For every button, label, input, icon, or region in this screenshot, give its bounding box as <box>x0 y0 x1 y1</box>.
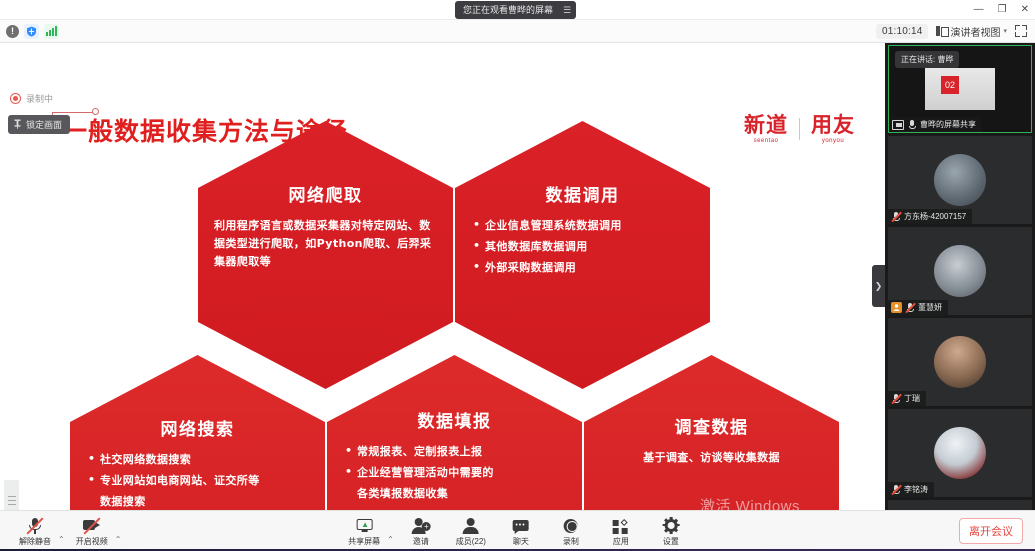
view-mode-selector[interactable]: 演讲者视图 ▾ <box>936 24 1007 39</box>
camera-off-icon <box>82 517 102 535</box>
maximize-button[interactable]: ❐ <box>998 0 1007 20</box>
participant-name: 丁瑞 <box>904 393 920 404</box>
annotation-leader-line <box>52 112 96 113</box>
hexagon-data-fill-title: 数据填报 <box>343 407 566 432</box>
view-mode-label: 演讲者视图 <box>950 24 1000 39</box>
annotation-toolbar-handle[interactable] <box>4 480 19 510</box>
avatar <box>934 245 986 297</box>
apps-icon <box>611 517 631 535</box>
list-item: 外部采购数据调用 <box>471 259 694 277</box>
participant-tile-dingrui[interactable]: 丁瑞 <box>888 318 1032 406</box>
mic-muted-icon <box>25 517 45 535</box>
participant-name-bar: 丁瑞 <box>888 391 926 406</box>
microphone-icon <box>907 119 917 130</box>
share-screen-button[interactable]: ▲ 共享屏幕 <box>339 516 389 547</box>
leave-meeting-button[interactable]: 离开会议 <box>959 518 1023 544</box>
info-icon[interactable]: ! <box>6 25 19 38</box>
video-button-label: 开启视频 <box>76 536 108 547</box>
record-button[interactable]: 录制 <box>546 516 596 547</box>
screen-share-banner-text: 您正在观看曹晔的屏幕 <box>463 1 553 19</box>
list-item: 数据搜索 <box>86 493 309 510</box>
participant-filmstrip[interactable]: 02 正在讲话: 曹晔 曹晔的屏幕共享 方东杨-42007157 <box>885 43 1035 510</box>
chat-icon: ••• <box>511 517 531 535</box>
record-label: 录制 <box>563 536 579 547</box>
invite-label: 邀请 <box>413 536 429 547</box>
screenshare-thumbnail-text: 02 <box>941 76 959 94</box>
mute-button-label: 解除静音 <box>19 536 51 547</box>
hexagon-web-search-list: 社交网络数据搜索 专业网站如电商网站、证交所等 数据搜索 政府部门、第三方数据收… <box>86 451 309 510</box>
window-titlebar: 您正在观看曹晔的屏幕 ☰ — ❐ ✕ <box>0 0 1035 20</box>
participant-name: 董慧妍 <box>918 302 942 313</box>
recording-label: 录制中 <box>26 92 53 105</box>
hexagon-web-crawl-title: 网络爬取 <box>214 181 437 206</box>
invite-button[interactable]: + 邀请 <box>396 516 446 547</box>
avatar <box>934 336 986 388</box>
apps-button[interactable]: 应用 <box>596 516 646 547</box>
hexagon-data-fill-list: 常规报表、定制报表上报 企业经营管理活动中需要的 各类填报数据收集 <box>343 443 566 503</box>
recording-indicator[interactable]: 录制中 <box>10 92 53 105</box>
settings-button[interactable]: 设置 <box>646 516 696 547</box>
pin-screen-tooltip[interactable]: 锁定画面 <box>8 115 70 134</box>
close-button[interactable]: ✕ <box>1021 0 1029 20</box>
banner-menu-icon[interactable]: ☰ <box>563 1 570 19</box>
meeting-info-right: 01:10:14 演讲者视图 ▾ <box>876 24 1027 39</box>
shared-screen-stage[interactable]: 一般数据收集方法与途径 新道 seentao 用友 yonyou 网络爬取 利用 <box>0 43 885 510</box>
hexagon-web-search-title: 网络搜索 <box>86 415 309 440</box>
list-item: 企业经营管理活动中需要的 <box>343 464 566 482</box>
collapse-filmstrip-button[interactable]: ❯ <box>872 265 885 307</box>
participant-name-bar: 方东杨-42007157 <box>888 209 972 224</box>
list-item: 社交网络数据搜索 <box>86 451 309 469</box>
hexagon-diagram: 网络爬取 利用程序语言或数据采集器对特定网站、数据类型进行爬取，如Python爬… <box>0 43 885 510</box>
microphone-muted-icon <box>891 393 901 404</box>
hexagon-survey-data-body: 基于调查、访谈等收集数据 <box>600 449 823 467</box>
host-badge-icon <box>891 302 902 313</box>
hexagon-web-search: 网络搜索 社交网络数据搜索 专业网站如电商网站、证交所等 数据搜索 政府部门、第… <box>70 355 325 510</box>
share-screen-label: 共享屏幕 <box>348 536 380 547</box>
chat-button[interactable]: ••• 聊天 <box>496 516 546 547</box>
active-speaker-chip: 正在讲话: 曹晔 <box>895 51 959 68</box>
settings-label: 设置 <box>663 536 679 547</box>
pin-icon <box>14 119 21 131</box>
video-options-caret-icon[interactable]: ⌃ <box>115 535 122 544</box>
participant-name: 方东杨-42007157 <box>904 211 966 222</box>
record-icon <box>561 517 581 535</box>
meeting-status-icons: ! <box>6 24 59 39</box>
participant-tile-fangdongyang[interactable]: 方东杨-42007157 <box>888 136 1032 224</box>
list-item: 常规报表、定制报表上报 <box>343 443 566 461</box>
meeting-control-bar: 解除静音 ⌃ 开启视频 ⌃ ▲ 共享屏幕 ⌃ + <box>0 510 1035 551</box>
meeting-info-bar: ! 01:10:14 演讲者视图 ▾ <box>0 20 1035 43</box>
control-bar-left-group: 解除静音 ⌃ 开启视频 ⌃ <box>10 516 123 547</box>
video-button[interactable]: 开启视频 <box>67 516 117 547</box>
participant-name: 李铭涛 <box>904 484 928 495</box>
share-screen-icon: ▲ <box>354 517 374 535</box>
control-bar-right-group: 离开会议 <box>959 518 1023 544</box>
participants-icon <box>461 517 481 535</box>
chat-label: 聊天 <box>513 536 529 547</box>
chevron-down-icon: ▾ <box>1003 27 1007 35</box>
invite-icon: + <box>411 517 431 535</box>
active-speaker-label: 正在讲话: 曹晔 <box>901 54 953 65</box>
avatar <box>934 427 986 479</box>
screen-share-icon <box>892 120 904 130</box>
screen-share-banner: 您正在观看曹晔的屏幕 ☰ <box>455 1 576 19</box>
participants-label: 成员(22) <box>456 536 486 547</box>
mute-button[interactable]: 解除静音 <box>10 516 60 547</box>
microphone-muted-icon <box>905 302 915 313</box>
participant-name-bar: 曹晔的屏幕共享 <box>889 117 982 132</box>
participant-name: 曹晔的屏幕共享 <box>920 119 976 130</box>
network-signal-icon[interactable] <box>44 24 59 39</box>
hexagon-survey-data-title: 调查数据 <box>600 413 823 438</box>
speaker-view-icon <box>936 26 947 36</box>
hexagon-web-crawl: 网络爬取 利用程序语言或数据采集器对特定网站、数据类型进行爬取，如Python爬… <box>198 121 453 389</box>
hexagon-data-call: 数据调用 企业信息管理系统数据调用 其他数据库数据调用 外部采购数据调用 <box>455 121 710 389</box>
presentation-slide: 一般数据收集方法与途径 新道 seentao 用友 yonyou 网络爬取 利用 <box>0 43 885 510</box>
apps-label: 应用 <box>613 536 629 547</box>
shield-icon[interactable] <box>24 24 39 39</box>
participant-tile-screenshare[interactable]: 02 正在讲话: 曹晔 曹晔的屏幕共享 <box>888 45 1032 133</box>
hexagon-data-call-list: 企业信息管理系统数据调用 其他数据库数据调用 外部采购数据调用 <box>471 217 694 277</box>
participant-name-bar: 董慧妍 <box>888 300 948 315</box>
hexagon-survey-data: 调查数据 基于调查、访谈等收集数据 <box>584 355 839 510</box>
microphone-muted-icon <box>891 211 901 222</box>
minimize-button[interactable]: — <box>974 0 984 20</box>
hexagon-data-fill: 数据填报 常规报表、定制报表上报 企业经营管理活动中需要的 各类填报数据收集 <box>327 355 582 510</box>
pin-screen-label: 锁定画面 <box>26 118 62 131</box>
participant-name-bar: 李铭涛 <box>888 482 934 497</box>
avatar <box>934 154 986 206</box>
participant-tile-next[interactable]: ⌄ <box>888 500 1032 510</box>
microphone-muted-icon <box>891 484 901 495</box>
list-item: 企业信息管理系统数据调用 <box>471 217 694 235</box>
meeting-timer: 01:10:14 <box>876 24 929 39</box>
window-controls: — ❐ ✕ <box>974 0 1029 20</box>
control-bar-center-group: ▲ 共享屏幕 ⌃ + 邀请 成员(22) ••• <box>339 516 696 547</box>
share-options-caret-icon[interactable]: ⌃ <box>387 535 394 544</box>
gear-icon <box>661 517 681 535</box>
participants-button[interactable]: 成员(22) <box>446 516 496 547</box>
hexagon-web-crawl-body: 利用程序语言或数据采集器对特定网站、数据类型进行爬取，如Python爬取、后羿采… <box>214 217 437 271</box>
list-item: 其他数据库数据调用 <box>471 238 694 256</box>
participant-tile-limingtao[interactable]: 李铭涛 <box>888 409 1032 497</box>
annotation-handle[interactable] <box>92 108 99 115</box>
audio-options-caret-icon[interactable]: ⌃ <box>58 535 65 544</box>
list-item: 各类填报数据收集 <box>343 485 566 503</box>
participant-tile-donghuiyan[interactable]: 董慧妍 <box>888 227 1032 315</box>
list-item: 专业网站如电商网站、证交所等 <box>86 472 309 490</box>
hexagon-data-call-title: 数据调用 <box>471 181 694 206</box>
record-dot-icon <box>10 93 21 104</box>
zoom-meeting-window: 您正在观看曹晔的屏幕 ☰ — ❐ ✕ ! <box>0 0 1035 551</box>
fullscreen-icon[interactable] <box>1015 25 1027 37</box>
